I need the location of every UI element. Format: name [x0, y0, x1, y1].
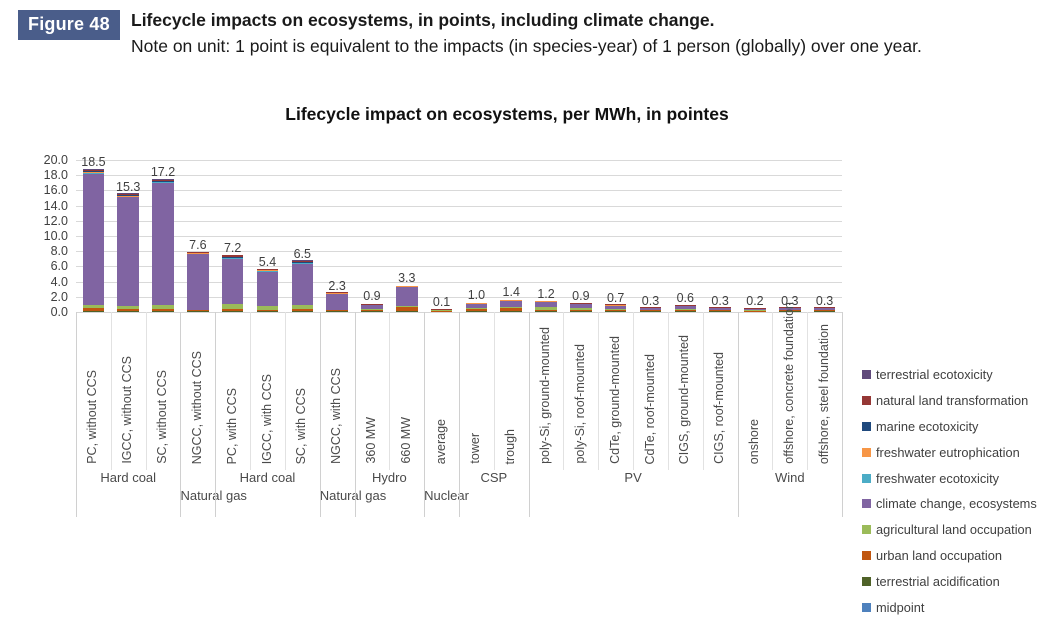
- legend-label: midpoint: [876, 600, 924, 615]
- group-separator: [355, 312, 356, 517]
- category-label: 360 MW: [365, 417, 378, 464]
- bars-layer: 18.515.317.27.67.25.46.52.30.93.30.11.01…: [76, 160, 842, 312]
- category-separator: [668, 312, 669, 470]
- group-separator: [180, 312, 181, 517]
- bar-slot[interactable]: [709, 160, 731, 312]
- stacked-bar[interactable]: [744, 308, 766, 312]
- bar-segment: [396, 311, 418, 312]
- bar-slot[interactable]: [605, 160, 627, 312]
- group-separator: [215, 312, 216, 517]
- group-separator: [320, 312, 321, 517]
- stacked-bar[interactable]: [187, 252, 209, 312]
- category-label: CIGS, ground-mounted: [678, 335, 691, 464]
- legend-label: terrestrial ecotoxicity: [876, 367, 993, 382]
- bar-segment: [361, 311, 383, 312]
- category-label: average: [435, 419, 448, 464]
- group-label: Natural gas: [180, 488, 215, 503]
- legend-swatch: [862, 551, 871, 560]
- bar-segment: [431, 311, 453, 312]
- stacked-bar[interactable]: [640, 307, 662, 312]
- legend-swatch: [862, 474, 871, 483]
- legend-swatch: [862, 525, 871, 534]
- category-label: poly-Si, ground-mounted: [539, 327, 552, 464]
- legend-item[interactable]: urban land occupation: [862, 543, 1056, 569]
- y-axis-tick-label: 0.0: [0, 306, 68, 318]
- legend-item[interactable]: marine ecotoxicity: [862, 414, 1056, 440]
- chart-title-text: Lifecycle impact on ecosystems, per MWh,…: [285, 104, 728, 124]
- category-label: CIGS, roof-mounted: [713, 352, 726, 464]
- category-label: trough: [504, 429, 517, 464]
- bar-segment: [640, 311, 662, 312]
- category-label: CdTe, ground-mounted: [609, 336, 622, 464]
- bar-slot[interactable]: [744, 160, 766, 312]
- bar-segment: [292, 311, 314, 312]
- bar-segment: [709, 311, 731, 312]
- legend-label: climate change, ecosystems: [876, 496, 1037, 511]
- category-separator: [146, 312, 147, 470]
- legend-label: marine ecotoxicity: [876, 419, 978, 434]
- category-label: poly-Si, roof-mounted: [574, 344, 587, 464]
- group-separator: [459, 312, 460, 517]
- group-separator: [738, 312, 739, 517]
- bar-segment: [570, 311, 592, 312]
- bar-slot[interactable]: [187, 160, 209, 312]
- legend-swatch: [862, 499, 871, 508]
- legend-item[interactable]: freshwater ecotoxicity: [862, 465, 1056, 491]
- category-label: PC, with CCS: [226, 388, 239, 464]
- bar-slot[interactable]: [779, 160, 801, 312]
- category-label: IGCC, with CCS: [261, 374, 274, 464]
- legend-item[interactable]: terrestrial ecotoxicity: [862, 362, 1056, 388]
- category-label: NGCC, without CCS: [191, 351, 204, 464]
- legend-swatch: [862, 422, 871, 431]
- y-axis-tick-label: 2.0: [0, 291, 68, 303]
- category-label: PC, without CCS: [86, 370, 99, 464]
- figure-title: Lifecycle impacts on ecosystems, in poin…: [131, 8, 1036, 34]
- y-axis-tick-label: 16.0: [0, 184, 68, 196]
- bar-segment: [605, 311, 627, 312]
- category-label: CdTe, roof-mounted: [644, 354, 657, 464]
- bar-value-label: 0.3: [790, 295, 860, 308]
- group-separator: [424, 312, 425, 517]
- bar-slot[interactable]: [814, 160, 836, 312]
- bar-segment: [83, 311, 105, 312]
- y-axis-tick-label: 6.0: [0, 260, 68, 272]
- figure-caption: Lifecycle impacts on ecosystems, in poin…: [131, 8, 1036, 59]
- y-axis-tick-label: 14.0: [0, 200, 68, 212]
- legend-label: agricultural land occupation: [876, 522, 1032, 537]
- category-label: 660 MW: [400, 417, 413, 464]
- legend-item[interactable]: freshwater eutrophication: [862, 439, 1056, 465]
- chart-title: Lifecycle impact on ecosystems, per MWh,…: [0, 104, 1056, 125]
- category-separator: [285, 312, 286, 470]
- category-separator: [111, 312, 112, 470]
- category-separator: [563, 312, 564, 470]
- category-label: SC, with CCS: [295, 388, 308, 464]
- legend-label: urban land occupation: [876, 548, 1002, 563]
- legend-item[interactable]: midpoint: [862, 594, 1056, 620]
- category-separator: [807, 312, 808, 470]
- y-axis-tick-label: 8.0: [0, 245, 68, 257]
- legend-item[interactable]: terrestrial acidification: [862, 568, 1056, 594]
- legend-swatch: [862, 370, 871, 379]
- group-separator: [842, 312, 843, 517]
- legend-item[interactable]: natural land transformation: [862, 388, 1056, 414]
- group-label: Hydro: [355, 470, 425, 485]
- stacked-bar[interactable]: [466, 303, 488, 312]
- category-label: offshore, concrete foundation: [783, 302, 796, 464]
- legend-swatch: [862, 448, 871, 457]
- category-label: tower: [469, 433, 482, 464]
- group-label: Natural gas: [320, 488, 355, 503]
- bar-segment: [814, 311, 836, 312]
- bar-segment: [117, 197, 139, 306]
- category-label: IGCC, without CCS: [121, 356, 134, 464]
- figure-number-badge: Figure 48: [18, 10, 120, 40]
- bar-segment: [222, 311, 244, 312]
- group-label: Wind: [738, 470, 842, 485]
- y-axis-tick-label: 12.0: [0, 215, 68, 227]
- chart-legend: terrestrial ecotoxicitynatural land tran…: [862, 362, 1056, 620]
- bar-segment: [187, 311, 209, 312]
- bar-slot[interactable]: [640, 160, 662, 312]
- figure-note: Note on unit: 1 point is equivalent to t…: [131, 34, 1036, 60]
- bar-segment: [535, 311, 557, 312]
- group-label: Hard coal: [76, 470, 180, 485]
- bar-slot[interactable]: [396, 160, 418, 312]
- bar-segment: [257, 272, 279, 306]
- category-separator: [633, 312, 634, 470]
- figure-header: Figure 48 Lifecycle impacts on ecosystem…: [0, 0, 1056, 96]
- bar-segment: [117, 311, 139, 312]
- category-label: offshore, steel foundation: [818, 324, 831, 464]
- bar-segment: [500, 311, 522, 312]
- legend-item[interactable]: agricultural land occupation: [862, 517, 1056, 543]
- bar-segment: [675, 311, 697, 312]
- y-axis-tick-label: 10.0: [0, 230, 68, 242]
- group-separator: [529, 312, 530, 517]
- category-label: SC, without CCS: [156, 370, 169, 464]
- category-separator: [772, 312, 773, 470]
- bar-slot[interactable]: [675, 160, 697, 312]
- legend-item[interactable]: climate change, ecosystems: [862, 491, 1056, 517]
- bar-segment: [257, 311, 279, 312]
- y-axis-tick-label: 18.0: [0, 169, 68, 181]
- group-label: Nuclear: [424, 488, 459, 503]
- legend-label: freshwater ecotoxicity: [876, 471, 999, 486]
- group-separator: [76, 312, 77, 517]
- stacked-bar-chart: 0.02.04.06.08.010.012.014.016.018.020.0 …: [0, 140, 1056, 555]
- category-separator: [598, 312, 599, 470]
- legend-swatch: [862, 603, 871, 612]
- bar-segment: [744, 311, 766, 312]
- group-label: CSP: [459, 470, 529, 485]
- stacked-bar[interactable]: [814, 307, 836, 312]
- bar-segment: [152, 311, 174, 312]
- group-label: PV: [529, 470, 738, 485]
- bar-slot[interactable]: [257, 160, 279, 312]
- category-separator: [703, 312, 704, 470]
- legend-label: freshwater eutrophication: [876, 445, 1020, 460]
- stacked-bar[interactable]: [431, 309, 453, 312]
- category-label: onshore: [748, 419, 761, 464]
- legend-swatch: [862, 396, 871, 405]
- bar-segment: [326, 311, 348, 312]
- category-separator: [250, 312, 251, 470]
- y-axis: 0.02.04.06.08.010.012.014.016.018.020.0: [0, 148, 68, 320]
- stacked-bar[interactable]: [500, 300, 522, 312]
- bar-slot[interactable]: [152, 160, 174, 312]
- group-label: Hard coal: [215, 470, 319, 485]
- stacked-bar[interactable]: [361, 304, 383, 312]
- bar-slot[interactable]: [222, 160, 244, 312]
- legend-label: terrestrial acidification: [876, 574, 1000, 589]
- legend-swatch: [862, 577, 871, 586]
- stacked-bar[interactable]: [117, 193, 139, 312]
- legend-label: natural land transformation: [876, 393, 1028, 408]
- category-separator: [389, 312, 390, 470]
- bar-segment: [187, 254, 209, 310]
- category-separator: [494, 312, 495, 470]
- stacked-bar[interactable]: [257, 269, 279, 312]
- bar-segment: [466, 311, 488, 312]
- category-label: NGCC, with CCS: [330, 368, 343, 464]
- y-axis-tick-label: 4.0: [0, 276, 68, 288]
